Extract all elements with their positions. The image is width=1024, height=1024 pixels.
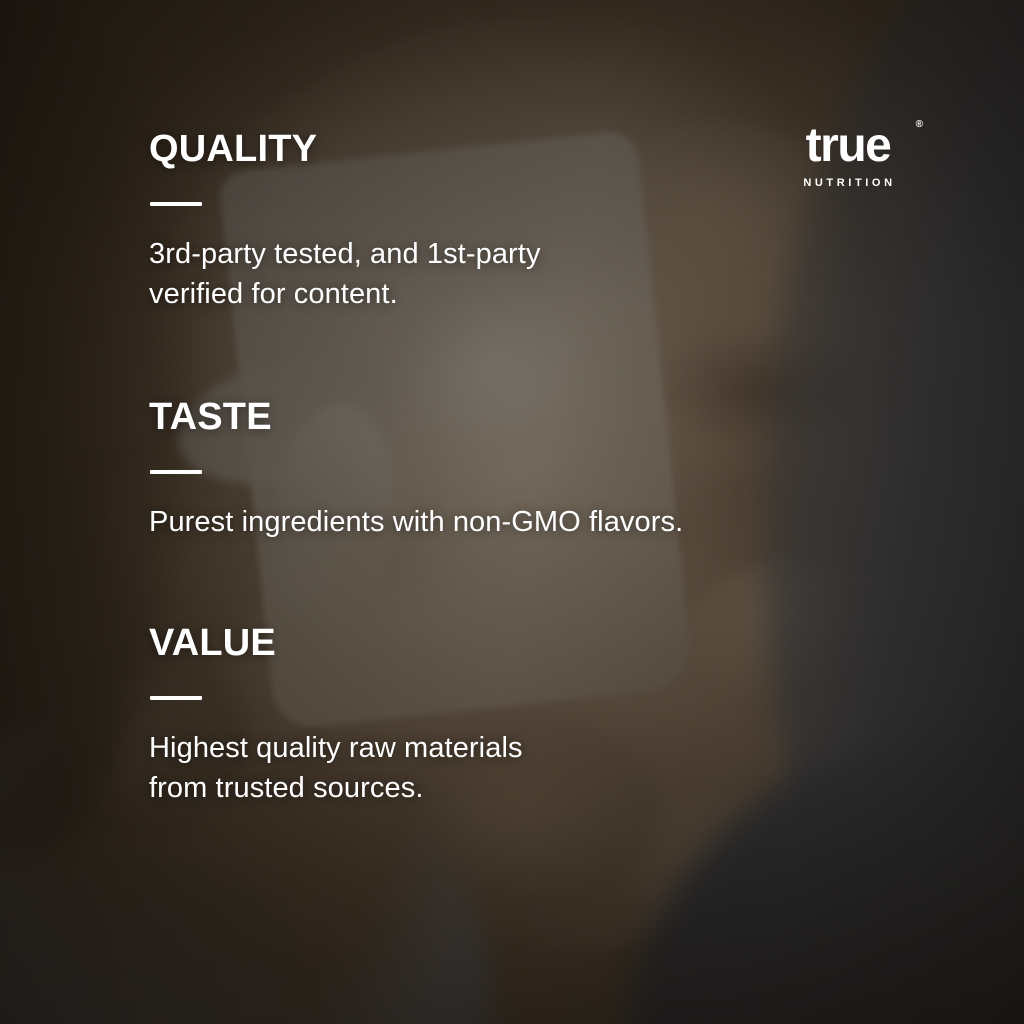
registered-trademark-icon: ® bbox=[916, 120, 923, 130]
value-proposition-list: QUALITY 3rd-party tested, and 1st-party … bbox=[149, 130, 849, 808]
content-layer: true® NUTRITION QUALITY 3rd-party tested… bbox=[0, 0, 1024, 1024]
title-divider-rule bbox=[150, 696, 202, 700]
value-block-value: VALUE Highest quality raw materials from… bbox=[149, 624, 849, 808]
promo-image: true® NUTRITION QUALITY 3rd-party tested… bbox=[0, 0, 1024, 1024]
value-block-body: Highest quality raw materials from trust… bbox=[149, 728, 849, 808]
value-block-quality: QUALITY 3rd-party tested, and 1st-party … bbox=[149, 130, 849, 314]
value-block-taste: TASTE Purest ingredients with non-GMO fl… bbox=[149, 398, 849, 542]
value-block-title: QUALITY bbox=[149, 130, 849, 170]
title-divider-rule bbox=[150, 202, 202, 206]
value-block-body: Purest ingredients with non-GMO flavors. bbox=[149, 502, 849, 542]
value-block-title: VALUE bbox=[149, 624, 849, 664]
title-divider-rule bbox=[150, 470, 202, 474]
value-block-title: TASTE bbox=[149, 398, 849, 438]
value-block-body: 3rd-party tested, and 1st-party verified… bbox=[149, 234, 849, 314]
